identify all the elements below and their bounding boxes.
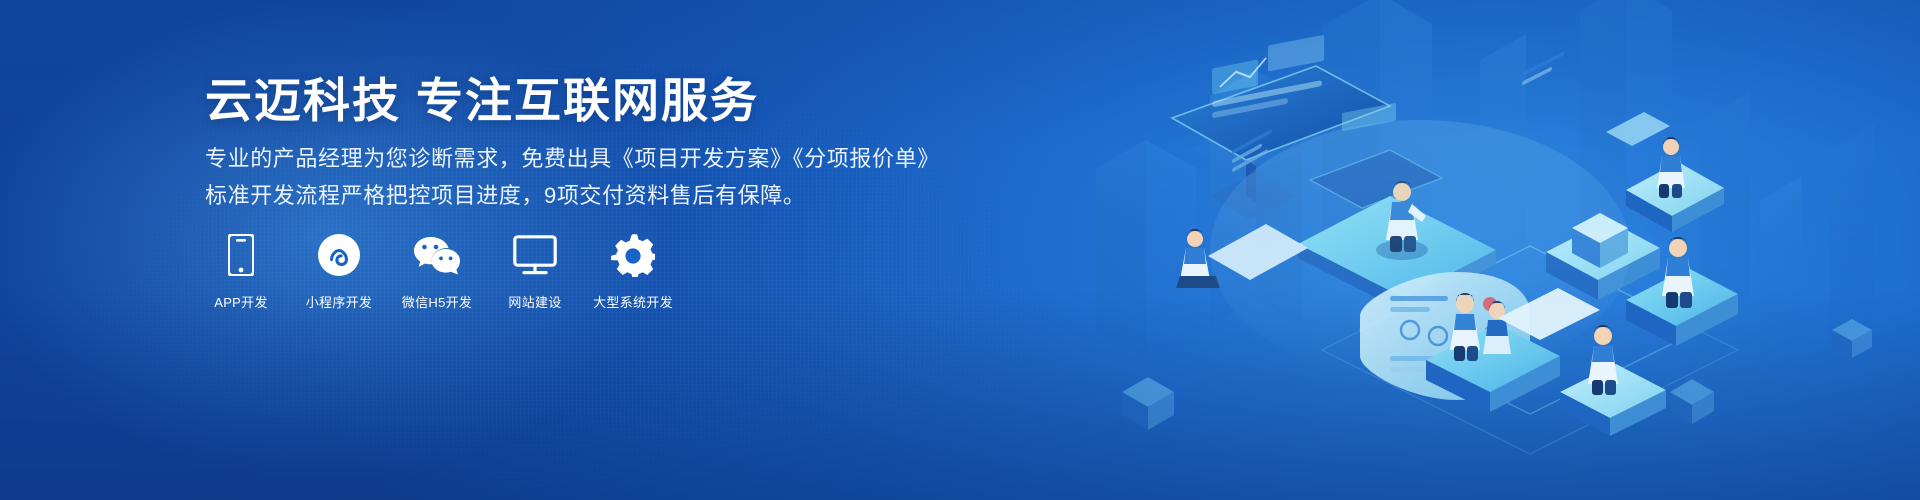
banner-subtitle: 专业的产品经理为您诊断需求，免费出具《项目开发方案》《分项报价单》 标准开发流程… — [205, 140, 905, 214]
service-label: 大型系统开发 — [593, 292, 673, 311]
banner-title: 云迈科技 专注互联网服务 — [205, 72, 759, 130]
service-item-website[interactable]: 网站建设 — [499, 232, 571, 311]
service-item-system[interactable]: 大型系统开发 — [597, 232, 669, 311]
subtitle-line-1: 专业的产品经理为您诊断需求，免费出具《项目开发方案》《分项报价单》 — [205, 140, 905, 177]
service-item-wechat[interactable]: 微信H5开发 — [401, 232, 473, 311]
gear-icon — [611, 232, 655, 278]
mini-program-icon — [318, 232, 360, 278]
banner-content: 云迈科技 专注互联网服务 专业的产品经理为您诊断需求，免费出具《项目开发方案》《… — [205, 0, 965, 500]
service-label: 网站建设 — [508, 292, 561, 311]
service-item-miniprogram[interactable]: 小程序开发 — [303, 232, 375, 311]
wechat-icon — [413, 232, 461, 278]
subtitle-line-2: 标准开发流程严格把控项目进度，9项交付资料售后有保障。 — [205, 177, 905, 214]
service-item-app[interactable]: APP开发 — [205, 232, 277, 311]
service-label: 小程序开发 — [306, 292, 373, 311]
monitor-icon — [513, 232, 557, 278]
service-icon-list: APP开发 小程序开发 — [205, 232, 695, 311]
promo-banner: 云迈科技 专注互联网服务 专业的产品经理为您诊断需求，免费出具《项目开发方案》《… — [0, 0, 1920, 500]
mobile-phone-icon — [228, 232, 254, 278]
service-label: 微信H5开发 — [402, 292, 472, 311]
isometric-data-platform-illustration — [1060, 0, 1920, 500]
service-label: APP开发 — [214, 292, 268, 311]
